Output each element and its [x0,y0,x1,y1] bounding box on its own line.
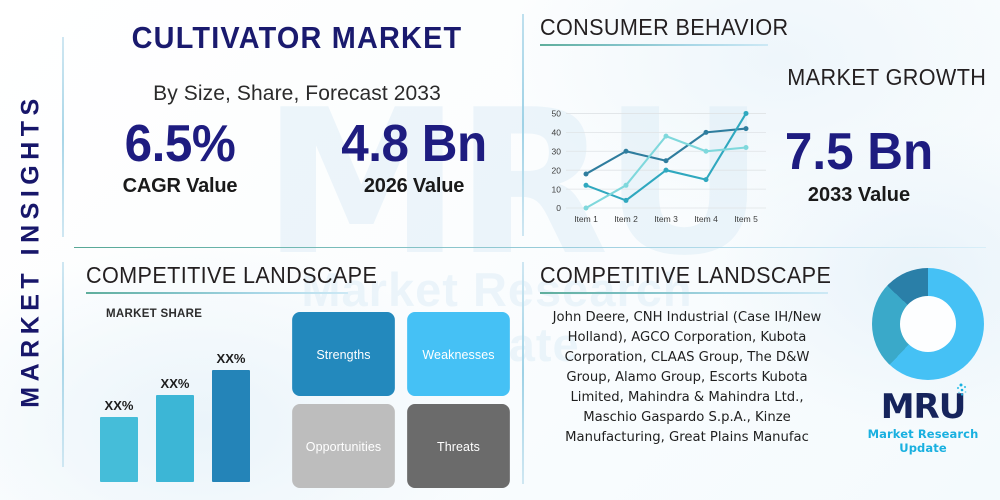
swot-cell-opportunities-label: Opportunities [306,439,381,454]
swot-cell-weaknesses-label: Weaknesses [422,347,494,362]
consumer-behavior-panel: CONSUMER BEHAVIOR MARKET GROWTH 01020304… [540,14,990,238]
market-share-bars: XX%XX%XX% [100,354,270,482]
swot-grid: Strengths Weaknesses Opportunities Threa… [290,308,512,488]
swot-heading-wrap: COMPETITIVE LANDSCAPE [86,262,348,294]
svg-text:40: 40 [552,128,562,138]
market-share-bar-1: XX% [100,398,138,482]
svg-text:20: 20 [552,165,562,175]
vertical-side-band: MARKET INSIGHTS [0,0,62,500]
divider-vertical-center-top [522,14,524,236]
market-share-title: MARKET SHARE [106,308,278,320]
market-share-bar-rect-3 [212,370,250,482]
market-share-bar-2: XX% [156,376,194,482]
svg-text:0: 0 [556,203,561,213]
companies-heading-rule [540,292,828,294]
consumer-behavior-heading-wrap: CONSUMER BEHAVIOR [540,14,768,46]
page-title: CULTIVATOR MARKET [91,20,502,56]
swot-body: MARKET SHARE XX%XX%XX% Strengths Weaknes… [86,308,516,488]
title-panel: CULTIVATOR MARKET By Size, Share, Foreca… [76,10,518,238]
swot-cell-strengths-label: Strengths [316,347,370,362]
svg-text:Item 4: Item 4 [694,214,718,224]
market-share-bar-chart: MARKET SHARE XX%XX%XX% [86,308,278,488]
kpi-2026-label: 2026 Value [324,175,504,198]
divider-vertical-left-top [62,37,64,237]
line-chart-y-tick-labels: 01020304050 [552,109,562,214]
divider-horizontal [74,247,986,248]
kpi-cagr: 6.5% CAGR Value [90,118,270,198]
svg-text:50: 50 [552,109,562,119]
market-share-bar-label-2: XX% [161,376,190,391]
line-chart-series [584,111,749,211]
svg-text:Item 5: Item 5 [734,214,758,224]
market-share-bar-rect-1 [100,417,138,482]
mru-logo-text: MRU [881,387,966,427]
swot-heading-rule [86,292,348,294]
kpi-row: 6.5% CAGR Value 4.8 Bn 2026 Value [76,118,518,198]
consumer-behavior-rule [540,44,768,46]
mru-logo-subtitle: Market Research Update [858,427,988,455]
market-share-donut-chart [872,268,984,380]
market-share-bar-label-3: XX% [217,351,246,366]
swot-cell-strengths[interactable]: Strengths [292,312,395,396]
market-growth-label: 2033 Value [754,184,964,207]
market-growth-kpi: 7.5 Bn 2033 Value [754,126,964,207]
market-share-bar-label-1: XX% [105,398,134,413]
market-share-bar-rect-2 [156,395,194,482]
companies-heading: COMPETITIVE LANDSCAPE [540,262,805,289]
swot-cell-weaknesses[interactable]: Weaknesses [407,312,510,396]
page-subtitle: By Size, Share, Forecast 2033 [76,82,518,106]
svg-text:10: 10 [552,184,562,194]
kpi-cagr-value: 6.5% [95,118,266,171]
svg-text:Item 1: Item 1 [574,214,598,224]
consumer-behavior-line-chart: 01020304050 Item 1Item 2Item 3Item 4Item… [540,98,772,228]
swot-heading: COMPETITIVE LANDSCAPE [86,262,327,289]
kpi-cagr-label: CAGR Value [90,175,270,198]
logo-droplet-icon [954,383,968,399]
market-share-bar-3: XX% [212,351,250,482]
swot-cell-threats[interactable]: Threats [407,404,510,488]
divider-vertical-left-bottom [62,262,64,467]
infographic-canvas: MRU Market Research Update MARKET INSIGH… [0,0,1000,500]
svg-text:Item 3: Item 3 [654,214,678,224]
svg-text:30: 30 [552,146,562,156]
consumer-behavior-heading: CONSUMER BEHAVIOR [540,14,750,41]
market-growth-heading: MARKET GROWTH [787,64,986,91]
svg-text:Item 2: Item 2 [614,214,638,224]
divider-vertical-center-bottom [522,262,524,484]
line-chart-x-tick-labels: Item 1Item 2Item 3Item 4Item 5 [574,214,758,224]
kpi-2026-value: 4.8 Bn [329,118,500,171]
competitive-landscape-companies-panel: COMPETITIVE LANDSCAPE John Deere, CNH In… [540,262,990,490]
companies-heading-wrap: COMPETITIVE LANDSCAPE [540,262,828,294]
swot-cell-opportunities[interactable]: Opportunities [292,404,395,488]
mru-logo: MRU Market Research Update [858,390,988,455]
kpi-2026: 4.8 Bn 2026 Value [324,118,504,198]
mru-logo-mark: MRU [881,390,966,424]
market-insights-label: MARKET INSIGHTS [17,93,46,407]
companies-list: John Deere, CNH Industrial (Case IH/New … [542,308,832,448]
market-growth-value: 7.5 Bn [759,126,959,178]
competitive-landscape-swot-panel: COMPETITIVE LANDSCAPE MARKET SHARE XX%XX… [86,262,516,488]
swot-cell-threats-label: Threats [437,439,480,454]
